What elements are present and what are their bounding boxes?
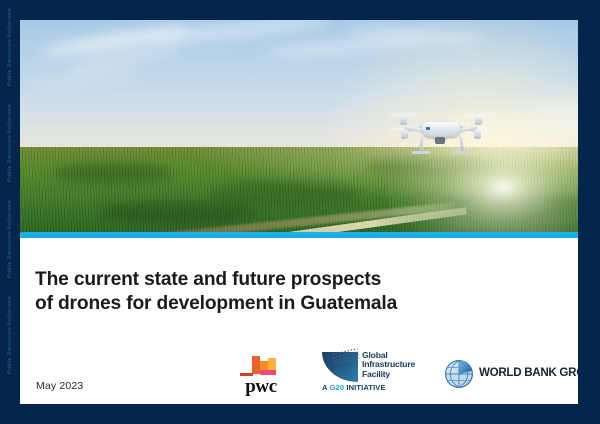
disclosure-stamp: Public Disclosure Authorized (7, 104, 13, 182)
drone-motor (400, 116, 407, 125)
gif-tagline: A G20 INITIATIVE (322, 383, 418, 392)
title-panel: The current state and future prospectsof… (20, 238, 578, 404)
document-page: The current state and future prospectsof… (20, 20, 578, 404)
world-bank-wordmark: WORLD BANK GROUP (479, 366, 578, 379)
drone-status-led (426, 127, 430, 130)
pwc-logo: pwc (228, 354, 294, 400)
drone-landing-leg (459, 134, 464, 152)
drone-landing-skid (452, 151, 470, 154)
pwc-block-orange (252, 356, 260, 374)
title-line-2: of drones for development in Guatemala (35, 292, 505, 316)
pwc-block-pink (260, 370, 276, 375)
public-disclosure-strip: Public Disclosure Authorized Public Disc… (0, 0, 20, 424)
globe-icon (444, 359, 474, 389)
drone-motor (475, 116, 482, 125)
gif-tagline-g20: G20 (330, 383, 345, 392)
field-shadow-patch (98, 200, 258, 224)
logo-row: pwc Global Infrastructure Facility A G20… (20, 350, 578, 402)
title-block: The current state and future prospectsof… (35, 268, 505, 316)
drone-motor (474, 130, 481, 139)
gif-wordmark: Global Infrastructure Facility (362, 351, 418, 379)
global-infrastructure-facility-logo: Global Infrastructure Facility A G20 INI… (322, 350, 418, 400)
green-field (20, 147, 578, 232)
drone-motor (401, 130, 408, 139)
drone-landing-leg (419, 134, 424, 152)
drone-landing-skid (412, 151, 430, 154)
gif-tagline-suffix: INITIATIVE (344, 383, 385, 392)
cover-page: Public Disclosure Authorized Public Disc… (0, 0, 600, 424)
world-bank-group-logo: WORLD BANK GROUP (444, 358, 578, 392)
disclosure-stamp: Public Disclosure Authorized (7, 200, 13, 278)
gif-tagline-prefix: A (322, 383, 330, 392)
cover-photo (20, 20, 578, 232)
pwc-wordmark: pwc (228, 376, 294, 398)
gif-line-3: Facility (362, 370, 418, 379)
drone-camera (435, 137, 445, 144)
page-title: The current state and future prospectsof… (35, 268, 505, 316)
title-line-1: The current state and future prospects (35, 269, 381, 290)
disclosure-stamp: Public Disclosure Authorized (7, 296, 13, 374)
drone-quadcopter (396, 108, 486, 156)
disclosure-stamp: Public Disclosure Authorized (7, 8, 13, 86)
